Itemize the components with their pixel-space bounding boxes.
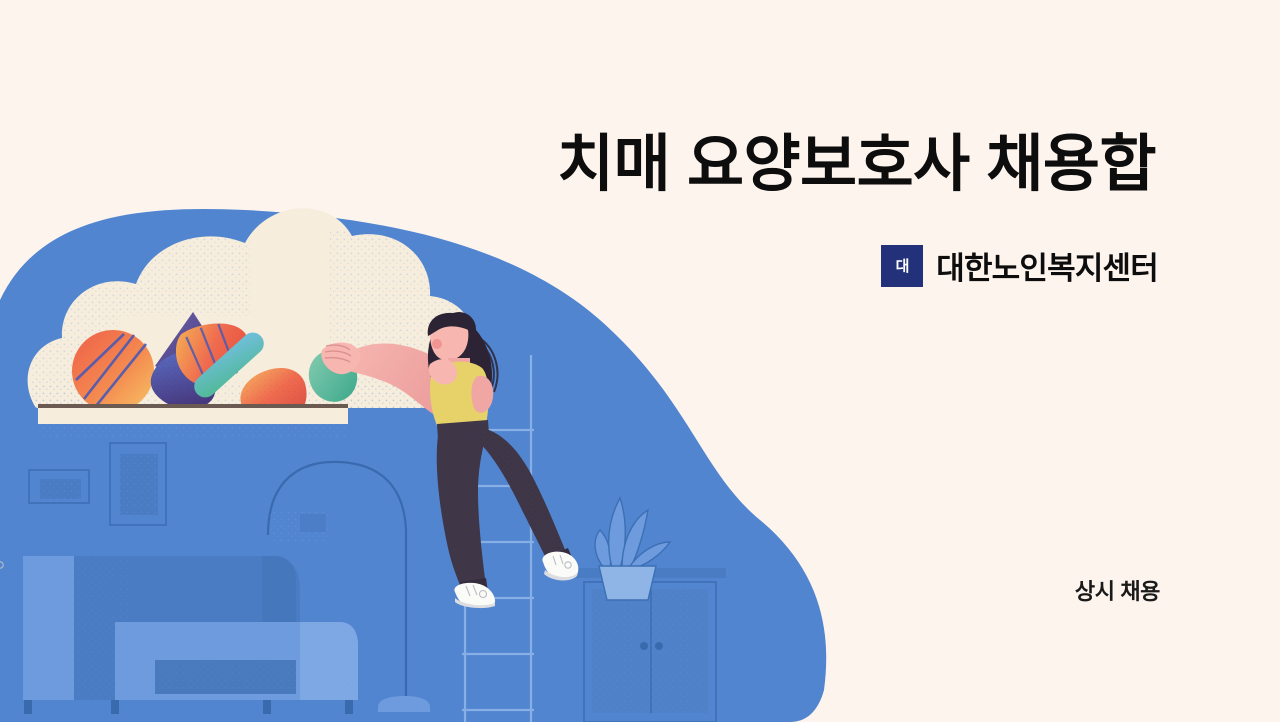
company-row[interactable]: 대 대한노인복지센터 [881, 243, 1158, 288]
job-posting-card: 치매 요양보호사 채용합 대 대한노인복지센터 상시 채용 [0, 0, 1280, 722]
page-title: 치매 요양보호사 채용합 [256, 127, 1156, 203]
company-logo-badge: 대 [881, 245, 923, 287]
hire-type-label: 상시 채용 [1075, 574, 1160, 606]
company-name[interactable]: 대한노인복지센터 [936, 243, 1158, 288]
text-layer: 치매 요양보호사 채용합 대 대한노인복지센터 상시 채용 [0, 0, 1280, 722]
